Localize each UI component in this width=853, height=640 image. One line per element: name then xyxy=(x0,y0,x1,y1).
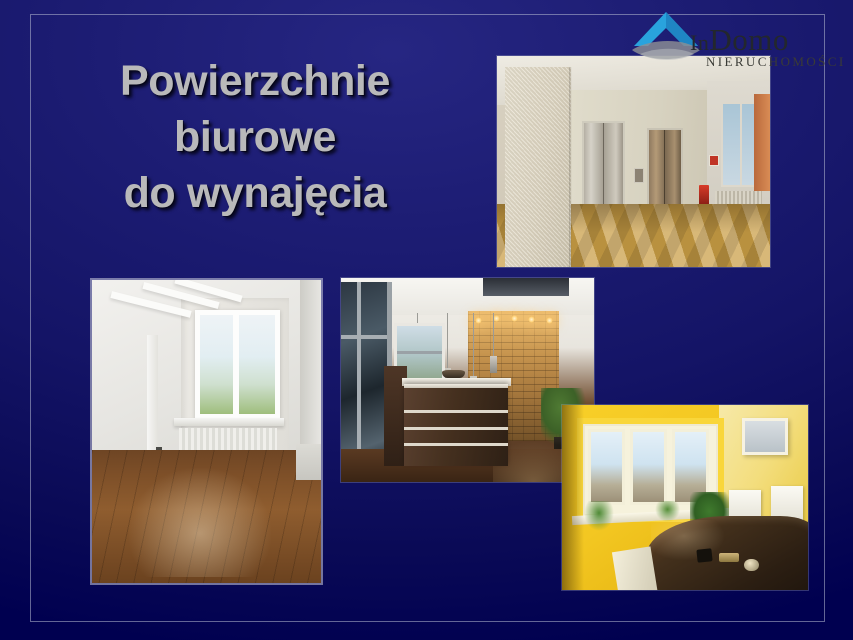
lobby-call-panel xyxy=(634,168,645,183)
conference-table-object xyxy=(719,553,739,562)
reception-desk-groove xyxy=(404,410,508,413)
photo-reception-desk-content xyxy=(341,278,594,482)
lobby-pillar xyxy=(505,67,571,267)
room-window-sill xyxy=(174,418,284,426)
photo-conference-room-content xyxy=(562,405,808,590)
room-wall-edge xyxy=(147,335,158,456)
reception-spotlight xyxy=(511,315,518,322)
reception-pendant-lamp xyxy=(447,313,448,370)
lobby-radiator xyxy=(715,191,761,204)
logo-tagline: NIERUCHOMOŚCI xyxy=(706,54,846,70)
logo-wordmark: InDomo xyxy=(690,24,789,55)
reception-spotlight xyxy=(475,317,482,324)
photo-empty-office-room-content xyxy=(92,280,321,583)
presentation-slide: Powierzchnie biurowe do wynajęcia xyxy=(0,0,853,640)
conference-table-object xyxy=(697,549,713,563)
conference-edge-shadow xyxy=(562,405,584,590)
reception-desk-groove xyxy=(404,427,508,430)
lobby-fire-extinguisher xyxy=(699,185,709,204)
reception-pendant-lamp xyxy=(493,313,494,358)
reception-ceiling-recess xyxy=(483,278,569,296)
reception-spotlight xyxy=(528,316,535,323)
conference-plant xyxy=(655,501,680,521)
room-floor-reflection xyxy=(129,468,271,577)
reception-spotlight xyxy=(493,315,500,322)
reception-desk xyxy=(404,384,508,466)
conference-wall-picture xyxy=(742,418,789,455)
conference-table-object xyxy=(744,559,759,572)
photo-empty-office-room[interactable] xyxy=(92,280,321,583)
reception-spotlight xyxy=(546,317,553,324)
room-window xyxy=(195,310,280,419)
photo-conference-room[interactable] xyxy=(562,405,808,590)
conference-window-pane xyxy=(630,429,667,504)
lobby-curtain xyxy=(754,94,770,191)
page-title: Powierzchnie biurowe do wynajęcia xyxy=(40,54,470,222)
conference-plant xyxy=(584,501,614,531)
reception-desk-object xyxy=(442,370,465,378)
logo-wordmark-domo: Domo xyxy=(709,22,789,57)
conference-table-reflection xyxy=(651,520,725,561)
lobby-fire-sign xyxy=(709,155,720,166)
conference-window-pane xyxy=(588,429,625,504)
room-radiator xyxy=(179,428,277,449)
company-logo[interactable]: InDomo NIERUCHOMOŚCI xyxy=(628,4,850,92)
photo-reception-desk[interactable] xyxy=(341,278,594,482)
reception-desk-groove xyxy=(404,443,508,446)
room-baseboard xyxy=(296,444,321,480)
reception-pendant-lamp xyxy=(473,313,474,378)
logo-wordmark-in: In xyxy=(690,30,709,55)
